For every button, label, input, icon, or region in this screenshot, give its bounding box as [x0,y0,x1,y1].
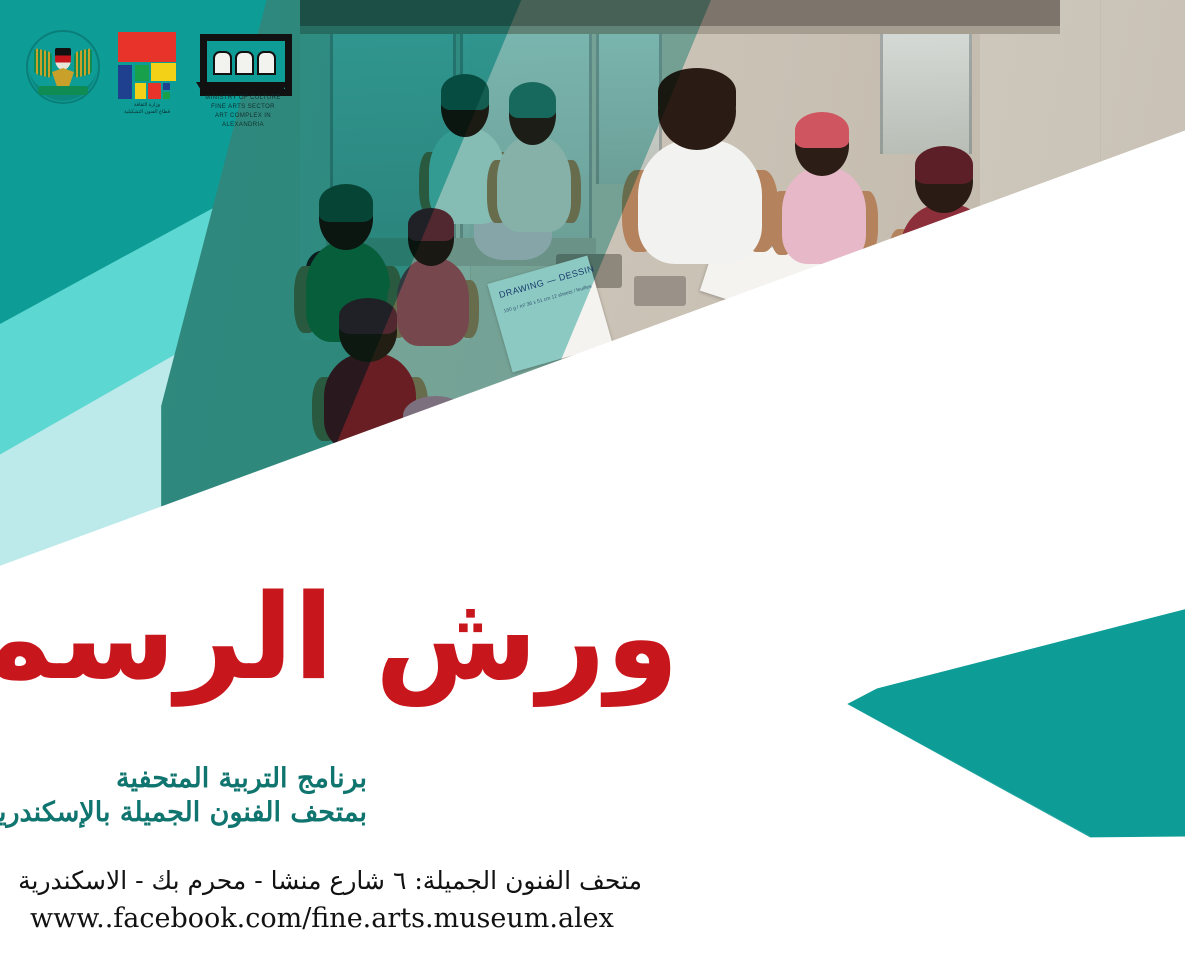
ministry-of-culture-logo: وزارة الثقافة قطاع الفنون التشكيلية [114,30,180,126]
child-torso [782,167,866,264]
poster-canvas: DRAWING — DESSIN160 g / m² 36 x 51 cm 12… [0,0,1185,967]
child-torso [638,139,761,264]
moc-block-1 [118,32,176,62]
poster-footer: متحف الفنون الجميلة: ٦ شارع منشا - محرم … [30,864,642,936]
emblem-scroll [38,86,88,95]
fas-line-1: MINISTRY OF CULTURE [194,94,292,103]
fas-artwork-2 [235,51,254,75]
emblem-wing-left [34,48,52,78]
emblem-wing-right [74,48,92,78]
egypt-state-emblem-icon [26,30,100,104]
emblem-shield [55,48,71,70]
subtitle-line-1: برنامج التربية المتحفية [0,762,367,796]
moc-block-3 [135,65,149,81]
fas-line-2: FINE ARTS SECTOR [194,103,292,112]
museum-address: متحف الفنون الجميلة: ٦ شارع منشا - محرم … [30,864,642,898]
moc-caption-line-1: وزارة الثقافة [114,102,180,109]
logo-row: وزارة الثقافة قطاع الفنون التشكيلية MINI… [26,30,292,134]
child-cap [795,112,849,148]
moc-color-blocks [114,30,180,102]
moc-block-2 [118,65,132,99]
moc-caption-line-2: قطاع الفنون التشكيلية [114,109,180,116]
moc-arabic-caption: وزارة الثقافة قطاع الفنون التشكيلية [114,102,180,116]
moc-block-5 [135,83,146,99]
moc-block-7 [163,83,170,90]
fas-line-3: ART COMPLEX IN ALEXANDRIA [194,112,292,130]
moc-block-4 [151,63,176,81]
fas-artwork-1 [213,51,232,75]
poster-headline: ورش الرسم للأطفال [0,578,679,696]
moc-block-8 [163,92,170,99]
fine-arts-sector-logo: MINISTRY OF CULTURE FINE ARTS SECTOR ART… [194,30,292,130]
subtitle-line-2: بمتحف الفنون الجميلة بالإسكندرية [0,796,367,830]
moc-block-6 [148,83,161,99]
facebook-url[interactable]: www..facebook.com/fine.arts.museum.alex [30,902,642,936]
fas-base-bar [196,82,288,91]
child-cap [915,146,973,184]
poster-subtitle: برنامج التربية المتحفية بمتحف الفنون الج… [0,762,367,830]
fas-caption: MINISTRY OF CULTURE FINE ARTS SECTOR ART… [194,94,292,130]
child-figure [776,112,872,264]
fas-artwork-3 [257,51,276,75]
